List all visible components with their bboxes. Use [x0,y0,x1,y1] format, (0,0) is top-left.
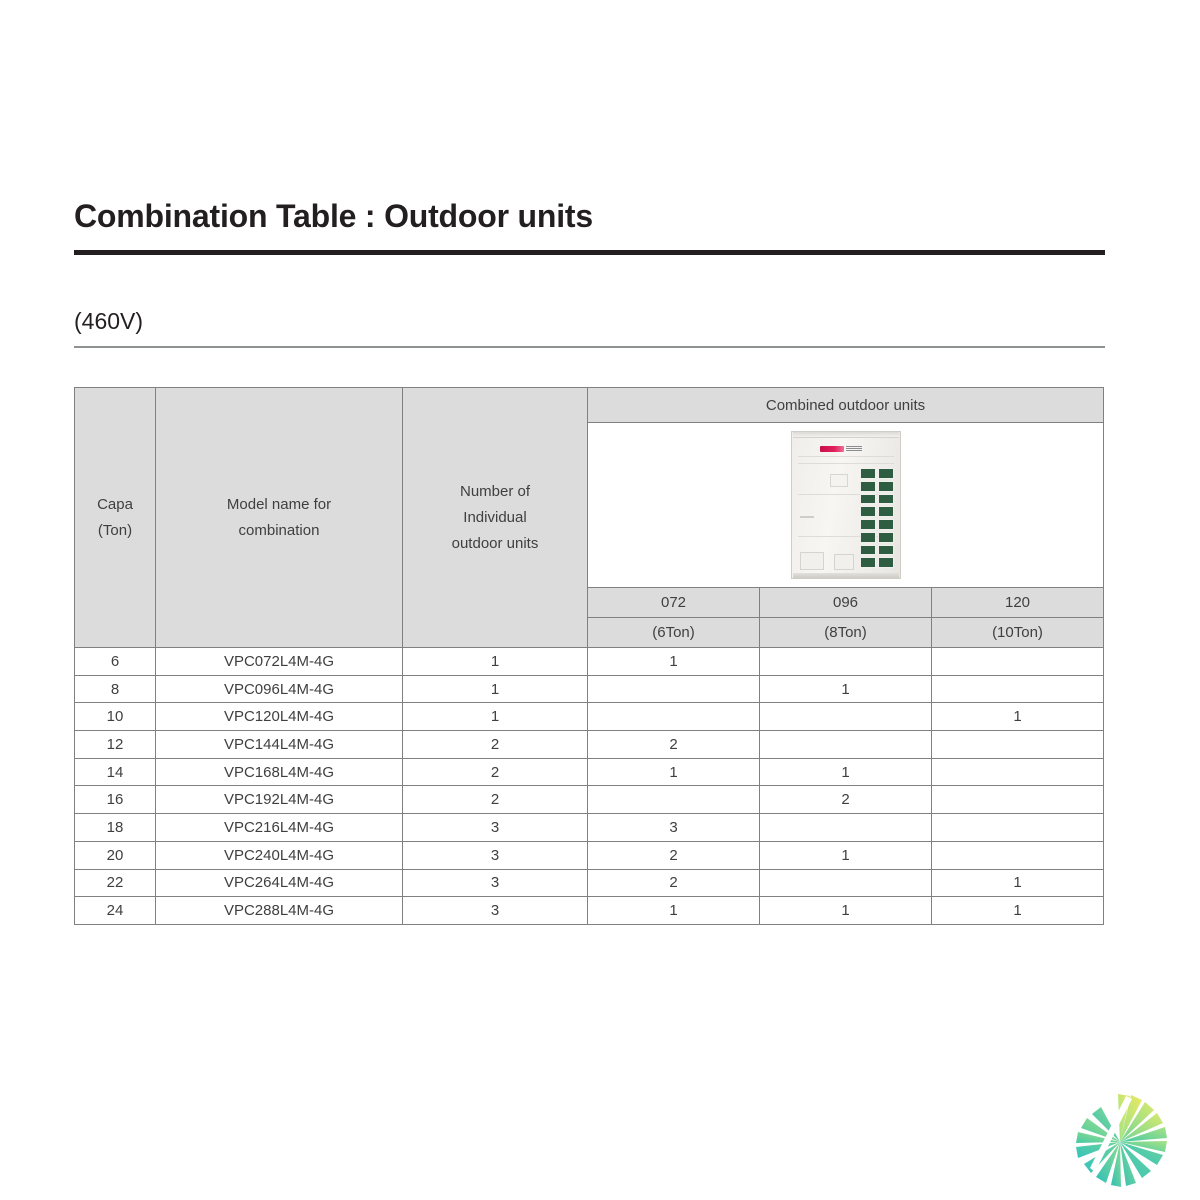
unit-access-panel [830,474,848,487]
cell-number: 3 [403,814,588,842]
cell-072: 2 [588,841,760,869]
cell-096: 1 [760,841,932,869]
cell-072: 2 [588,869,760,897]
header-model-name: Model name for combination [156,388,403,648]
header-capa-line1: Capa [75,492,155,518]
cell-120: 1 [932,703,1104,731]
cell-model: VPC264L4M-4G [156,869,403,897]
cell-capa: 8 [75,675,156,703]
coil-cell [878,494,894,505]
cell-capa: 20 [75,841,156,869]
coil-cell [860,481,876,492]
unit-handle [800,516,814,518]
cell-120 [932,841,1104,869]
title-block: Combination Table : Outdoor units [74,196,1105,255]
cell-120 [932,814,1104,842]
title-divider [74,250,1105,255]
burst-petals [1076,1094,1167,1187]
coil-cell [878,468,894,479]
cell-072 [588,703,760,731]
cell-model: VPC096L4M-4G [156,675,403,703]
cell-120 [932,648,1104,676]
unit-seam-2 [798,463,894,464]
coil-cell [878,532,894,543]
cell-072: 3 [588,814,760,842]
cell-model: VPC072L4M-4G [156,648,403,676]
voltage-subtitle: (460V) [74,305,1105,337]
cell-model: VPC288L4M-4G [156,897,403,925]
coil-cell [860,532,876,543]
coil-cell [878,557,894,568]
header-number-of-units: Number of Individual outdoor units [403,388,588,648]
burst-logo [1064,1092,1176,1190]
cell-number: 3 [403,841,588,869]
header-combined-outdoor-units: Combined outdoor units [588,388,1104,423]
lennox-logo-wordmark [846,446,862,451]
header-number-line2: Individual [403,505,587,531]
cell-number: 1 [403,648,588,676]
subheader-code-072: 072 [588,588,760,618]
cell-number: 3 [403,869,588,897]
cell-120 [932,731,1104,759]
table-row: 22 VPC264L4M-4G 3 2 1 [75,869,1104,897]
cell-capa: 10 [75,703,156,731]
cell-096: 1 [760,758,932,786]
header-number-line3: outdoor units [403,531,587,557]
cell-capa: 14 [75,758,156,786]
outdoor-unit-photo [588,423,1103,587]
table-row: 24 VPC288L4M-4G 3 1 1 1 [75,897,1104,925]
cell-capa: 16 [75,786,156,814]
coil-cell [860,519,876,530]
cell-096 [760,869,932,897]
table-row: 14 VPC168L4M-4G 2 1 1 [75,758,1104,786]
cell-096: 1 [760,897,932,925]
coil-cell [878,545,894,556]
lennox-logo [820,445,868,452]
cell-096 [760,648,932,676]
unit-piping-box-left [800,552,824,570]
table-row: 6 VPC072L4M-4G 1 1 [75,648,1104,676]
cell-model: VPC216L4M-4G [156,814,403,842]
unit-top-panel [793,432,899,438]
table-header-row-group: Capa (Ton) Model name for combination Nu… [75,388,1104,423]
header-number-line1: Number of [403,479,587,505]
header-capa: Capa (Ton) [75,388,156,648]
cell-072: 1 [588,897,760,925]
coil-cell [860,494,876,505]
unit-seam-1 [798,456,894,457]
cell-120: 1 [932,897,1104,925]
cell-number: 1 [403,703,588,731]
subtitle-divider [74,346,1105,348]
cell-096 [760,731,932,759]
combination-table: Capa (Ton) Model name for combination Nu… [74,387,1104,925]
coil-cell [860,557,876,568]
cell-120 [932,786,1104,814]
cell-096: 1 [760,675,932,703]
page-title: Combination Table : Outdoor units [74,196,1105,236]
coil-cell [878,481,894,492]
cell-120 [932,675,1104,703]
subheader-tons-096: (8Ton) [760,618,932,648]
cell-072: 1 [588,648,760,676]
cell-capa: 12 [75,731,156,759]
cell-capa: 6 [75,648,156,676]
coil-cell [878,506,894,517]
cell-120: 1 [932,869,1104,897]
cell-model: VPC120L4M-4G [156,703,403,731]
unit-heat-exchanger-grille [860,468,894,568]
table-row: 18 VPC216L4M-4G 3 3 [75,814,1104,842]
coil-cell [860,545,876,556]
subheader-code-096: 096 [760,588,932,618]
outdoor-unit-photo-cell [588,423,1104,588]
cell-096 [760,703,932,731]
table-row: 10 VPC120L4M-4G 1 1 [75,703,1104,731]
table-row: 12 VPC144L4M-4G 2 2 [75,731,1104,759]
cell-number: 1 [403,675,588,703]
cell-number: 2 [403,758,588,786]
cell-capa: 18 [75,814,156,842]
lennox-logo-mark [820,446,844,452]
subheader-tons-120: (10Ton) [932,618,1104,648]
cell-number: 2 [403,731,588,759]
subheader-tons-072: (6Ton) [588,618,760,648]
cell-120 [932,758,1104,786]
header-model-line2: combination [156,518,402,544]
cell-model: VPC144L4M-4G [156,731,403,759]
cell-072: 2 [588,731,760,759]
table-row: 20 VPC240L4M-4G 3 2 1 [75,841,1104,869]
cell-model: VPC168L4M-4G [156,758,403,786]
cell-number: 2 [403,786,588,814]
cell-072: 1 [588,758,760,786]
cell-096 [760,814,932,842]
cell-model: VPC192L4M-4G [156,786,403,814]
coil-cell [860,506,876,517]
cell-capa: 22 [75,869,156,897]
cell-072 [588,675,760,703]
header-model-line1: Model name for [156,492,402,518]
cell-model: VPC240L4M-4G [156,841,403,869]
header-capa-line2: (Ton) [75,518,155,544]
coil-cell [878,519,894,530]
table-row: 16 VPC192L4M-4G 2 2 [75,786,1104,814]
coil-cell [860,468,876,479]
cell-number: 3 [403,897,588,925]
outdoor-unit-illustration [791,431,901,579]
unit-base-rail [793,573,899,578]
cell-072 [588,786,760,814]
subtitle-block: (460V) [74,305,1105,348]
cell-capa: 24 [75,897,156,925]
unit-piping-box-right [834,554,854,570]
table-row: 8 VPC096L4M-4G 1 1 [75,675,1104,703]
cell-096: 2 [760,786,932,814]
subheader-code-120: 120 [932,588,1104,618]
